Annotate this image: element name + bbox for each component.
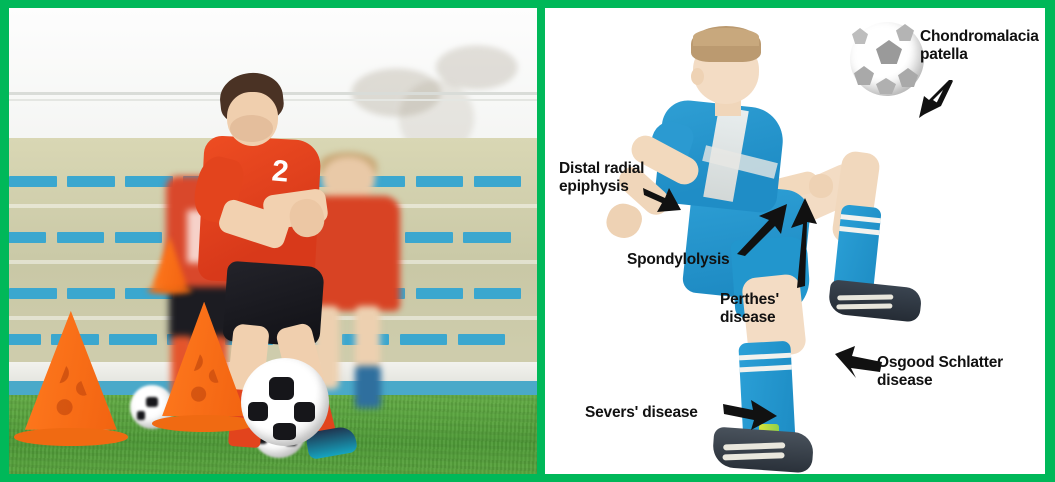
soccer-ball-foreground [241, 358, 329, 446]
arrow-perthes-disease [785, 198, 819, 288]
label-spondylolysis: Spondylolysis [627, 251, 729, 269]
arrow-severs-disease [723, 400, 777, 432]
soccer-training-photo: 2 [9, 8, 537, 474]
arrow-osgood-schlatter-disease [835, 346, 883, 378]
label-chondromalacia-patella: Chondromalacia patella [920, 28, 1039, 64]
injury-diagram-figure: 2 [0, 0, 1055, 482]
label-osgood-schlatter-disease: Osgood Schlatter disease [877, 354, 1003, 390]
label-severs-disease: Severs' disease [585, 404, 698, 422]
arrow-distal-radial-epiphysis [643, 186, 683, 218]
label-distal-radial-epiphysis: Distal radial epiphysis [559, 160, 644, 196]
training-cone [25, 311, 117, 446]
arrow-chondromalacia-patella [915, 78, 959, 122]
training-cone [162, 302, 246, 432]
injury-annotation-panel: Chondromalacia patella Distal radial epi… [545, 8, 1045, 474]
training-cone-background [152, 236, 188, 294]
arrow-spondylolysis [735, 204, 791, 256]
label-perthes-disease: Perthes' disease [720, 291, 779, 327]
